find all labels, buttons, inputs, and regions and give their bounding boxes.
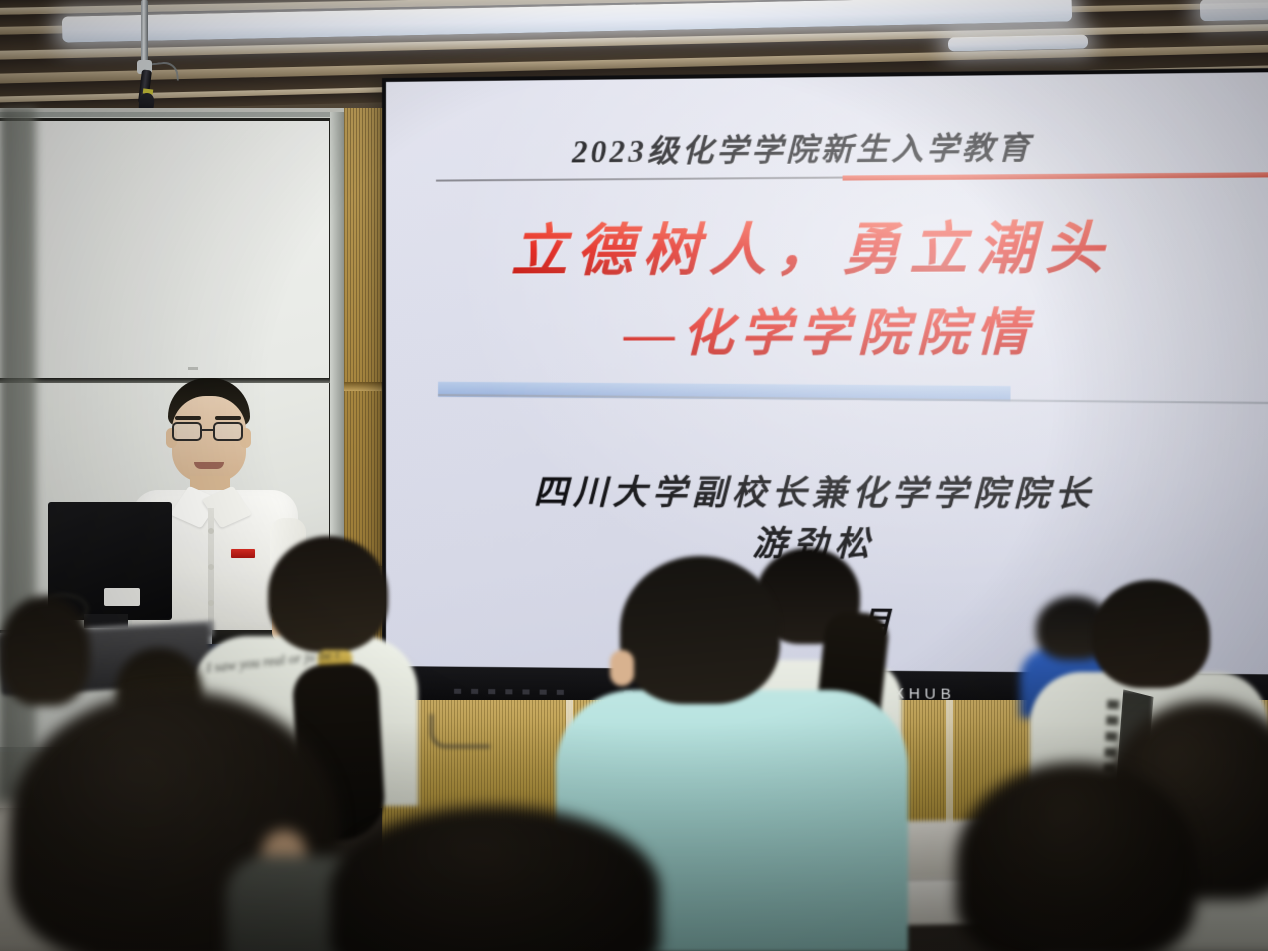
glasses-icon-right-lens bbox=[213, 422, 243, 441]
presenter-name-badge bbox=[230, 548, 256, 559]
slide-organization: 四川大学副校长兼化学学院院长 bbox=[386, 464, 1268, 517]
glasses-icon-left-lens bbox=[172, 422, 202, 441]
slide-title-sub: —化学学院院情 bbox=[386, 291, 1268, 366]
monitor-sticker-label bbox=[104, 588, 140, 606]
shirt-button bbox=[208, 600, 214, 606]
rule-red-segment bbox=[843, 172, 1268, 181]
presenter-eyebrow-left bbox=[175, 416, 201, 420]
slide-title-main: 立德树人，勇立潮头 bbox=[386, 216, 1268, 285]
presenter-mouth bbox=[194, 462, 224, 469]
slide-subtitle: 2023级化学学院新生入学教育 bbox=[386, 119, 1268, 173]
shirt-button bbox=[208, 564, 214, 570]
ceiling-light-tube-far bbox=[1200, 0, 1268, 21]
slide-top-rule bbox=[436, 172, 1268, 183]
display-cable bbox=[430, 714, 490, 748]
ceiling-light-tube-secondary bbox=[948, 35, 1088, 52]
glasses-bridge bbox=[202, 429, 213, 431]
ear bbox=[610, 650, 634, 686]
bezel-vent-dots bbox=[454, 689, 565, 695]
rule-gray-segment bbox=[436, 177, 843, 182]
shirt-button bbox=[208, 528, 214, 534]
bamboo-band-upper bbox=[344, 382, 386, 391]
presenter-eyebrow-right bbox=[215, 416, 241, 420]
lecture-hall-photo: 2023级化学学院新生入学教育 立德树人，勇立潮头 —化学学院院情 四川大学副校… bbox=[0, 0, 1268, 951]
